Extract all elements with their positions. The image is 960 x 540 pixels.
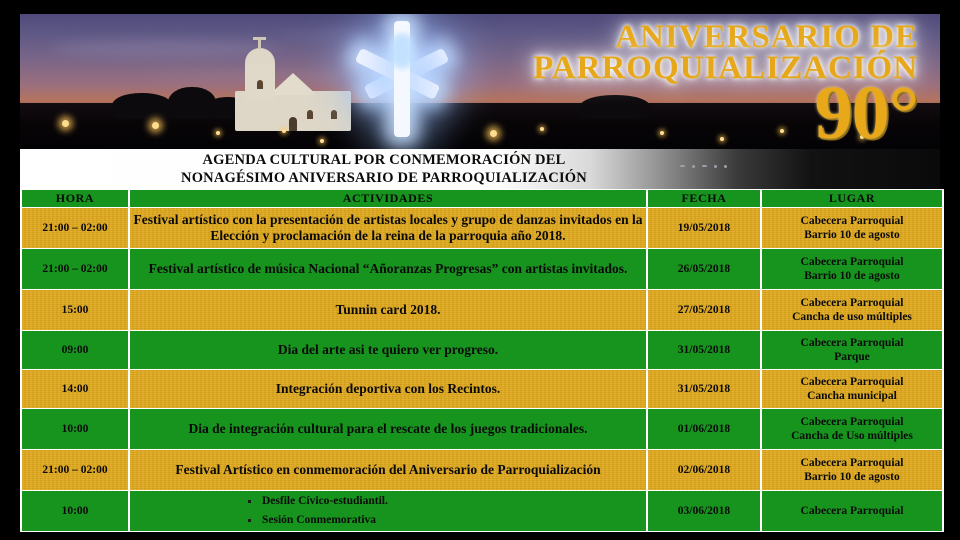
agenda-table-container: HORA ACTIVIDADES FECHA LUGAR 21:00 – 02:… — [20, 189, 940, 526]
decorative-dots — [680, 157, 734, 175]
cell-actividad: Dia de integración cultural para el resc… — [130, 409, 646, 449]
street-lamp-light — [62, 120, 69, 127]
cell-hora: 15:00 — [22, 290, 128, 330]
cell-hora: 09:00 — [22, 331, 128, 369]
column-header-actividades: ACTIVIDADES — [130, 190, 646, 207]
cell-fecha: 02/06/2018 — [648, 450, 760, 490]
page-title-line1: AGENDA CULTURAL POR CONMEMORACIÓN DEL — [104, 151, 664, 169]
cell-lugar-line2: Cancha de uso múltiples — [762, 310, 942, 324]
cell-actividad: Tunnin card 2018. — [130, 290, 646, 330]
cloud-shape — [50, 40, 280, 56]
street-lamp-light — [152, 122, 159, 129]
column-header-hora: HORA — [22, 190, 128, 207]
column-header-fecha: FECHA — [648, 190, 760, 207]
street-lamp-light — [216, 131, 220, 135]
street-lamp-light — [780, 129, 784, 133]
cell-lugar-line1: Cabecera Parroquial — [762, 296, 942, 310]
cell-lugar-line2: Barrio 10 de agosto — [762, 228, 942, 242]
poster-root: ANIVERSARIO DE PARROQUIALIZACIÓN 90° AGE… — [0, 0, 960, 540]
table-row: 21:00 – 02:00 Festival artístico con la … — [22, 208, 942, 248]
list-item: Sesión Conmemorativa — [248, 511, 646, 530]
page-title: AGENDA CULTURAL POR CONMEMORACIÓN DEL NO… — [104, 151, 664, 187]
cell-lugar-line1: Cabecera Parroquial — [762, 336, 942, 350]
cell-actividad: Festival artístico con la presentación d… — [130, 208, 646, 248]
cell-lugar-line1: Cabecera Parroquial — [762, 375, 942, 389]
cell-lugar-line2: Cancha municipal — [762, 389, 942, 403]
banner-title-line2: PARROQUIALIZACIÓN — [533, 53, 918, 84]
table-row: 10:00 Desfile Cívico-estudiantil. Sesión… — [22, 491, 942, 531]
cell-lugar: Cabecera Parroquial Barrio 10 de agosto — [762, 450, 942, 490]
cell-fecha: 03/06/2018 — [648, 491, 760, 531]
cell-hora: 14:00 — [22, 370, 128, 408]
cell-actividad: Desfile Cívico-estudiantil. Sesión Conme… — [130, 491, 646, 531]
cell-actividad: Integración deportiva con los Recintos. — [130, 370, 646, 408]
list-item: Desfile Cívico-estudiantil. — [248, 492, 646, 511]
cell-lugar: Cabecera Parroquial Cancha de Uso múltip… — [762, 409, 942, 449]
cell-fecha: 26/05/2018 — [648, 249, 760, 289]
street-lamp-light — [282, 129, 286, 133]
column-header-lugar: LUGAR — [762, 190, 942, 207]
cell-hora: 21:00 – 02:00 — [22, 249, 128, 289]
street-lamp-light — [320, 139, 324, 143]
cell-lugar-line1: Cabecera Parroquial — [762, 255, 942, 269]
street-lamp-light — [540, 127, 544, 131]
cell-lugar-line2: Barrio 10 de agosto — [762, 470, 942, 484]
cell-hora: 10:00 — [22, 409, 128, 449]
cell-lugar: Cabecera Parroquial Cancha municipal — [762, 370, 942, 408]
tree-silhouette — [580, 95, 650, 119]
cell-lugar-line2: Barrio 10 de agosto — [762, 269, 942, 283]
cell-actividad: Festival Artístico en conmemoración del … — [130, 450, 646, 490]
cell-lugar-line2: Parque — [762, 350, 942, 364]
cell-fecha: 19/05/2018 — [648, 208, 760, 248]
cell-fecha: 27/05/2018 — [648, 290, 760, 330]
cell-lugar: Cabecera Parroquial — [762, 491, 942, 531]
cell-hora: 21:00 – 02:00 — [22, 208, 128, 248]
cell-lugar: Cabecera Parroquial Parque — [762, 331, 942, 369]
cell-fecha: 31/05/2018 — [648, 370, 760, 408]
street-lamp-light — [860, 135, 864, 139]
cell-lugar-line2: Cancha de Uso múltiples — [762, 429, 942, 443]
illuminated-cross-icon — [342, 17, 462, 137]
cell-lugar: Cabecera Parroquial Cancha de uso múltip… — [762, 290, 942, 330]
cell-lugar-line1: Cabecera Parroquial — [762, 214, 942, 228]
cell-hora: 10:00 — [22, 491, 128, 531]
table-row: 09:00 Dia del arte asi te quiero ver pro… — [22, 331, 942, 369]
cell-lugar-line1: Cabecera Parroquial — [762, 415, 942, 429]
table-header-row: HORA ACTIVIDADES FECHA LUGAR — [22, 190, 942, 207]
table-row: 14:00 Integración deportiva con los Reci… — [22, 370, 942, 408]
heading-band: AGENDA CULTURAL POR CONMEMORACIÓN DEL NO… — [20, 149, 940, 189]
cell-actividad: Festival artístico de música Nacional “A… — [130, 249, 646, 289]
cell-actividad: Dia del arte asi te quiero ver progreso. — [130, 331, 646, 369]
table-row: 21:00 – 02:00 Festival artístico de músi… — [22, 249, 942, 289]
page-title-line2: NONAGÉSIMO ANIVERSARIO DE PARROQUIALIZAC… — [104, 169, 664, 187]
street-lamp-light — [720, 137, 724, 141]
cell-lugar: Cabecera Parroquial Barrio 10 de agosto — [762, 249, 942, 289]
cell-lugar-line1: Cabecera Parroquial — [762, 456, 942, 470]
table-row: 15:00 Tunnin card 2018. 27/05/2018 Cabec… — [22, 290, 942, 330]
tree-silhouette — [112, 93, 172, 119]
table-row: 10:00 Dia de integración cultural para e… — [22, 409, 942, 449]
cell-lugar-line1: Cabecera Parroquial — [762, 504, 942, 518]
cell-fecha: 01/06/2018 — [648, 409, 760, 449]
table-row: 21:00 – 02:00 Festival Artístico en conm… — [22, 450, 942, 490]
banner-photo: ANIVERSARIO DE PARROQUIALIZACIÓN 90° — [20, 14, 940, 149]
cell-hora: 21:00 – 02:00 — [22, 450, 128, 490]
street-lamp-light — [660, 131, 664, 135]
street-lamp-light — [490, 130, 497, 137]
cell-lugar: Cabecera Parroquial Barrio 10 de agosto — [762, 208, 942, 248]
agenda-table: HORA ACTIVIDADES FECHA LUGAR 21:00 – 02:… — [20, 189, 944, 532]
activity-bullet-list: Desfile Cívico-estudiantil. Sesión Conme… — [130, 492, 646, 530]
cell-fecha: 31/05/2018 — [648, 331, 760, 369]
banner-title-line1: ANIVERSARIO DE — [533, 22, 918, 53]
